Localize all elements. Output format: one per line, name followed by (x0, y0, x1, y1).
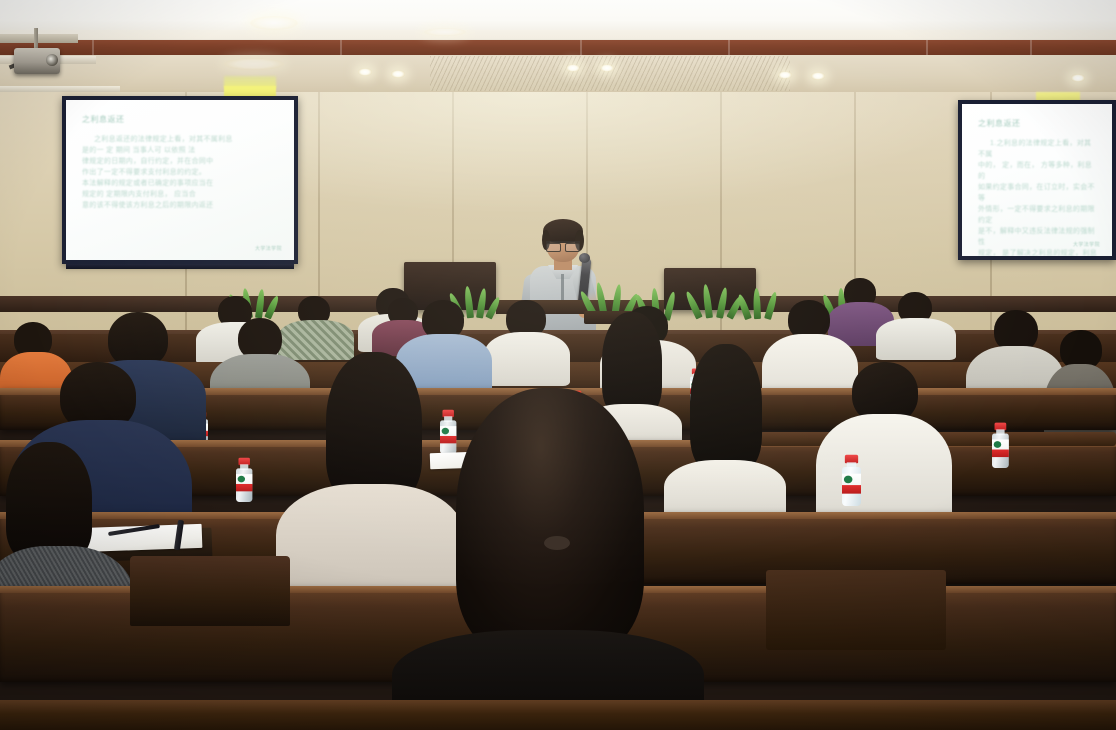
slide-title-right: 之利息返还 (978, 118, 1098, 129)
downlight-icon (358, 68, 372, 76)
attendee-white-shirt-right-mid (816, 362, 952, 530)
ceiling-panel-light (250, 16, 298, 30)
downlight-icon (391, 70, 405, 78)
slide-line: 是的一 定 期间 当事人可 以依照 法 (82, 145, 280, 156)
slide-line: 规定， 是了解决之利息的规定，利息之 (978, 248, 1098, 256)
downlight-icon (600, 64, 614, 72)
slide-line: 之利息返还的法律规定上看，对其不属利息 (82, 134, 280, 145)
downlight-icon (566, 64, 580, 72)
chair-back (766, 570, 946, 650)
slide-line: 本法解释的规定或者已确定的事项应当在 (82, 178, 280, 189)
projection-screen-left: 之利息返还 之利息返还的法律规定上看，对其不属利息 是的一 定 期间 当事人可 … (62, 96, 298, 264)
screen-bottom-bar-left (66, 264, 294, 269)
slide-line: 作出了一定不得要求支付利息的约定。 (82, 167, 280, 178)
water-bottle (992, 423, 1009, 468)
microphone-head-icon (579, 253, 590, 263)
projection-screen-right: 之利息返还 1.之利息的法律规定上看，对其不属 中的， 定，而在， 方等多种，利… (958, 100, 1116, 260)
slide-title-left: 之利息返还 (82, 114, 280, 125)
slide-line: 1.之利息的法律规定上看，对其不属 (978, 138, 1098, 160)
downlight-icon (811, 72, 825, 80)
attendee-foreground (392, 388, 704, 730)
attendee-white-shirt-rightfar (876, 292, 956, 356)
slide-line: 规定的 定期限内支付利息， 应当合 (82, 189, 280, 200)
ceiling-projector (8, 28, 64, 74)
slide-line: 外情形，一定不得要求之利息的期限约定 (978, 204, 1098, 226)
slide-line: 律规定的日期内，自行约定，并在合同中 (82, 156, 280, 167)
ceiling-wood-trim (0, 40, 1116, 56)
water-bottle (236, 458, 252, 502)
lecture-hall-photograph: 之利息返还 之利息返还的法律规定上看，对其不属利息 是的一 定 期间 当事人可 … (0, 0, 1116, 730)
snake-plant (694, 284, 740, 318)
slide-logo-left: 大学法学院 (255, 245, 282, 252)
ceiling-panel-light (224, 58, 284, 70)
ceiling-surface (0, 0, 1116, 34)
slide-logo-right: 大学法学院 (1073, 241, 1100, 248)
projector-mount-rod (34, 28, 38, 50)
chair-back (130, 556, 290, 626)
glasses-icon (546, 241, 580, 251)
slide-surface-right: 之利息返还 1.之利息的法律规定上看，对其不属 中的， 定，而在， 方等多种，利… (962, 104, 1112, 256)
downlight-icon (1071, 74, 1085, 82)
slide-line: 意的该不得使该方利息之后的期限内返还 (82, 200, 280, 211)
desk-front-lip (0, 700, 1116, 730)
slide-line: 如果约定事合同，在订立时，实会不等 (978, 182, 1098, 204)
projector-lens-icon (46, 54, 58, 66)
ceiling-grille-panel (430, 56, 790, 91)
slide-line: 中的， 定，而在， 方等多种，利息的 (978, 160, 1098, 182)
downlight-icon (778, 71, 792, 79)
ceiling-panel-light (424, 28, 466, 36)
slide-surface-left: 之利息返还 之利息返还的法律规定上看，对其不属利息 是的一 定 期间 当事人可 … (66, 100, 294, 260)
attendee-white-shirt-mid (484, 300, 570, 384)
presenter-shirt-placket (561, 274, 564, 300)
hair-tie (544, 536, 570, 550)
water-bottle (842, 455, 861, 506)
